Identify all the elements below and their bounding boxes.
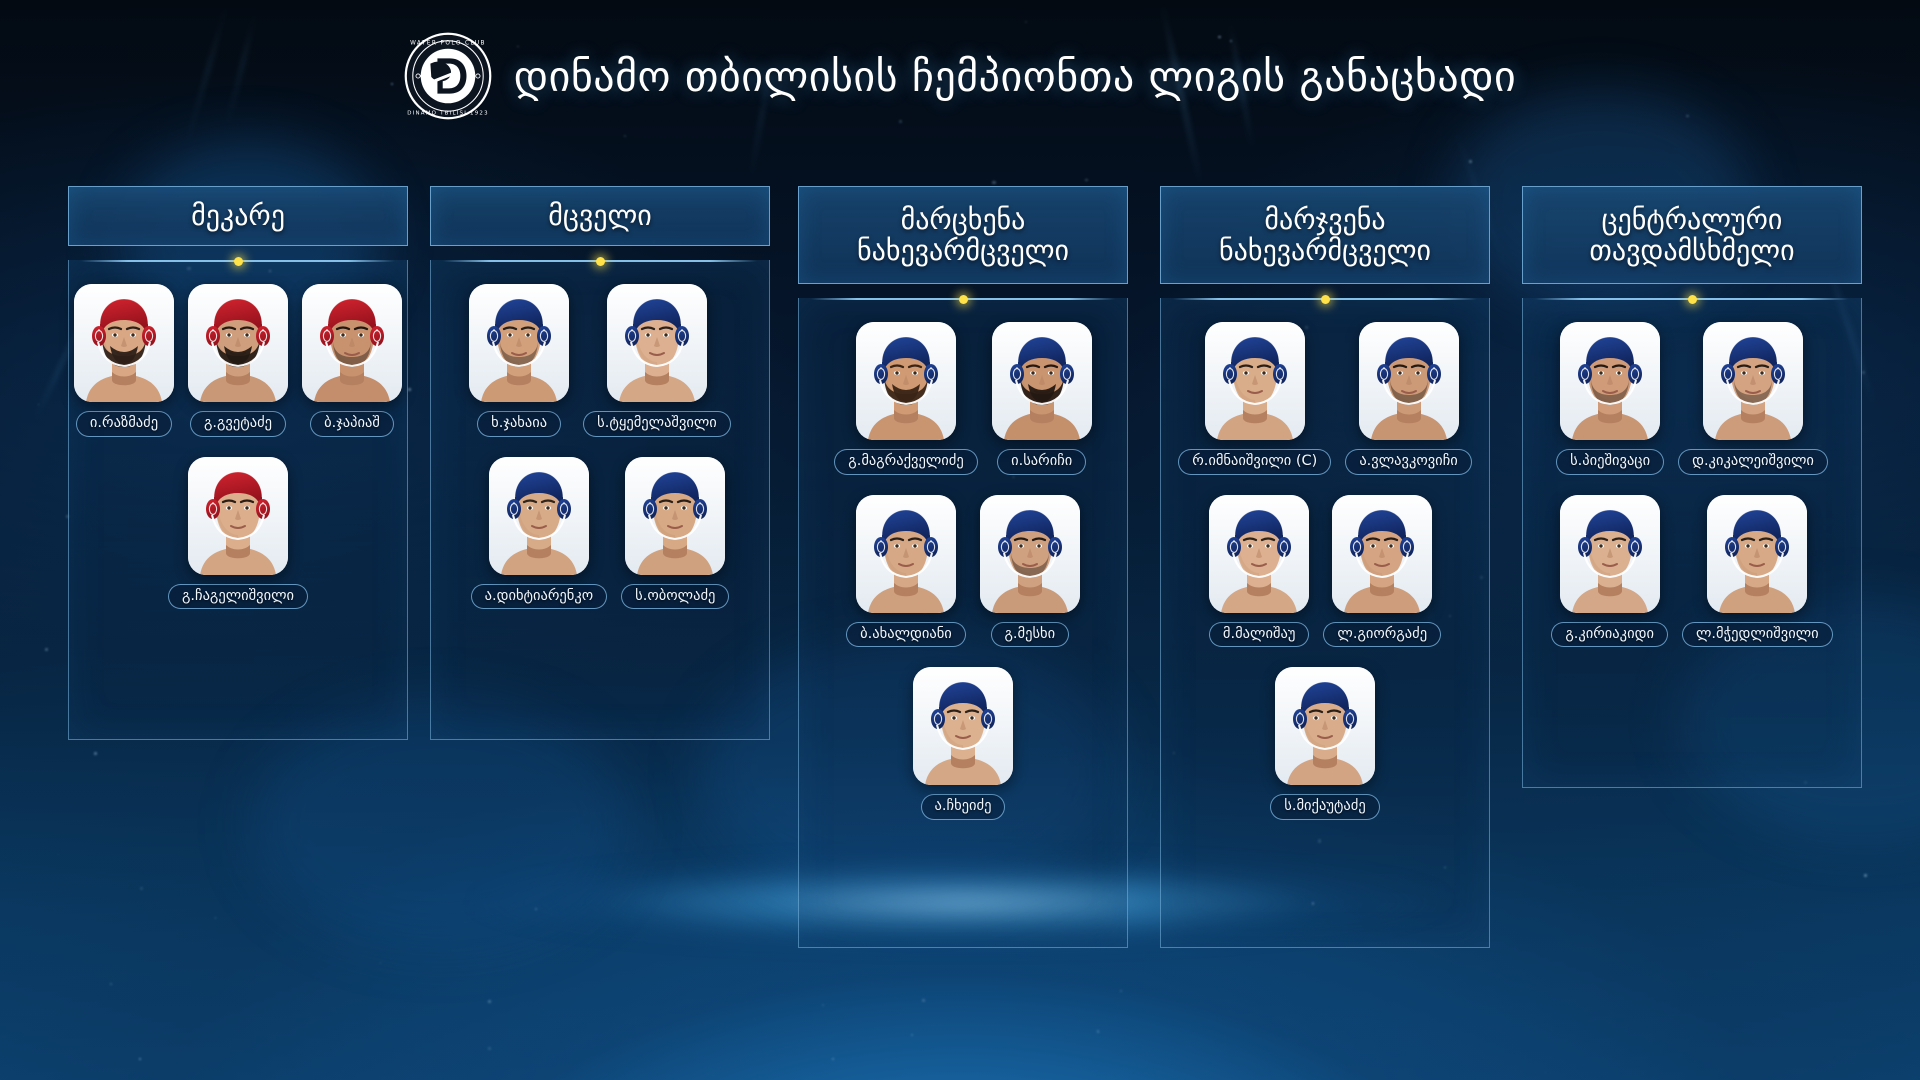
roster-column: მარჯვენანახევარმცველირ.იმნაიშვილი (C)ა.ვ… [1160, 186, 1490, 948]
svg-text:DINAMO TBILISI 1923: DINAMO TBILISI 1923 [407, 111, 489, 117]
player-card[interactable]: ლ.მჭედლიშვილი [1682, 495, 1833, 648]
background-sparkle [1085, 179, 1088, 182]
column-header: მარჯვენანახევარმცველი [1160, 186, 1490, 284]
player-card[interactable]: ი.რაზმაძე [74, 284, 174, 437]
column-body: რ.იმნაიშვილი (C)ა.ვლავკოვიჩიმ.მალიშაულ.გ… [1160, 298, 1490, 948]
player-name: ს.ტყემელაშვილი [583, 411, 731, 437]
background-sparkle [1469, 160, 1472, 163]
column-body: ი.რაზმაძეგ.გვეტაძებ.ჯაპიაშგ.ჩაგელიშვილი [68, 260, 408, 740]
player-name: რ.იმნაიშვილი (C) [1178, 449, 1331, 475]
player-name: ა.ვლავკოვიჩი [1345, 449, 1471, 475]
player-grid: ი.რაზმაძეგ.გვეტაძებ.ჯაპიაშგ.ჩაგელიშვილი [69, 262, 407, 609]
page-header: WATER POLO CLUB DINAMO TBILISI 1923 დინა… [0, 32, 1920, 120]
background-sparkle [110, 983, 112, 985]
player-name: ს.ობოლაძე [621, 584, 729, 610]
player-name: მ.მალიშაუ [1209, 622, 1310, 648]
player-card[interactable]: გ.გვეტაძე [188, 284, 288, 437]
column-divider [1173, 298, 1477, 300]
column-body: გ.მაგრაქველიძეი.სარიჩიბ.ახალდიანიგ.მესხი… [798, 298, 1128, 948]
player-photo [1209, 495, 1309, 613]
player-card[interactable]: მ.მალიშაუ [1209, 495, 1310, 648]
column-divider [443, 260, 757, 262]
column-divider [81, 260, 395, 262]
background-sparkle [1864, 874, 1867, 877]
column-title-line: ნახევარმცველი [1219, 235, 1431, 266]
player-photo [1205, 322, 1305, 440]
player-card[interactable]: ს.ტყემელაშვილი [583, 284, 731, 437]
player-name: ლ.გიორგაძე [1323, 622, 1441, 648]
column-title-line: ნახევარმცველი [857, 235, 1069, 266]
player-card[interactable]: გ.კირიაკიდი [1551, 495, 1668, 648]
player-card[interactable]: ბ.ახალდიანი [846, 495, 966, 648]
column-divider [811, 298, 1115, 300]
player-name: გ.მაგრაქველიძე [834, 449, 977, 475]
player-photo [489, 457, 589, 575]
player-card[interactable]: ბ.ჯაპიაშ [302, 284, 402, 437]
player-photo [302, 284, 402, 402]
column-divider-dot [234, 257, 243, 266]
player-photo [856, 322, 956, 440]
dinamo-water-polo-club-crest-icon: WATER POLO CLUB DINAMO TBILISI 1923 [404, 32, 492, 120]
column-title-line: მცველი [548, 200, 652, 231]
player-name: ს.მიქაუტაძე [1270, 794, 1379, 820]
player-photo [980, 495, 1080, 613]
player-card[interactable]: ხ.ჯახაია [469, 284, 569, 437]
player-name: ა.დიხტიარენკო [471, 584, 608, 610]
column-title-line: ცენტრალური [1602, 204, 1783, 235]
player-card[interactable]: რ.იმნაიშვილი (C) [1178, 322, 1331, 475]
background-sparkle [922, 999, 924, 1001]
background-sparkle [408, 388, 410, 390]
svg-text:WATER POLO CLUB: WATER POLO CLUB [410, 40, 486, 46]
player-name: ხ.ჯახაია [477, 411, 561, 437]
roster-column: მარცხენანახევარმცველიგ.მაგრაქველიძეი.სარ… [798, 186, 1128, 948]
player-grid: გ.მაგრაქველიძეი.სარიჩიბ.ახალდიანიგ.მესხი… [799, 300, 1127, 820]
column-header: ცენტრალურითავდამსხმელი [1522, 186, 1862, 284]
player-photo [1275, 667, 1375, 785]
roster-column: მეკარეი.რაზმაძეგ.გვეტაძებ.ჯაპიაშგ.ჩაგელი… [68, 186, 408, 740]
player-name: გ.გვეტაძე [190, 411, 286, 437]
player-card[interactable]: დ.კიკალეიშვილი [1678, 322, 1828, 475]
player-photo [188, 284, 288, 402]
column-header: მეკარე [68, 186, 408, 246]
column-body: ს.პიეშივაციდ.კიკალეიშვილიგ.კირიაკიდილ.მჭ… [1522, 298, 1862, 788]
column-title-line: მარჯვენა [1264, 204, 1385, 235]
player-name: ს.პიეშივაცი [1556, 449, 1664, 475]
roster-column: ცენტრალურითავდამსხმელის.პიეშივაციდ.კიკალ… [1522, 186, 1862, 788]
background-sparkle [488, 1047, 491, 1050]
player-card[interactable]: ს.მიქაუტაძე [1270, 667, 1379, 820]
column-divider-dot [959, 295, 968, 304]
column-divider-dot [596, 257, 605, 266]
background-sparkle [94, 752, 97, 755]
column-header: მცველი [430, 186, 770, 246]
player-card[interactable]: გ.მაგრაქველიძე [834, 322, 977, 475]
column-title-line: თავდამსხმელი [1589, 235, 1794, 266]
player-card[interactable]: ი.სარიჩი [992, 322, 1092, 475]
player-photo [1332, 495, 1432, 613]
player-grid: ს.პიეშივაციდ.კიკალეიშვილიგ.კირიაკიდილ.მჭ… [1523, 300, 1861, 647]
player-name: ბ.ჯაპიაშ [310, 411, 394, 437]
column-divider-dot [1688, 295, 1697, 304]
player-photo [1560, 322, 1660, 440]
player-card[interactable]: ს.ობოლაძე [621, 457, 729, 610]
player-card[interactable]: ა.დიხტიარენკო [471, 457, 608, 610]
player-card[interactable]: გ.ჩაგელიშვილი [168, 457, 308, 610]
player-name: ი.რაზმაძე [76, 411, 172, 437]
column-body: ხ.ჯახაიას.ტყემელაშვილია.დიხტიარენკოს.ობო… [430, 260, 770, 740]
background-sparkle [380, 962, 382, 964]
column-divider [1535, 298, 1849, 300]
player-card[interactable]: გ.მესხი [980, 495, 1080, 648]
player-card[interactable]: ა.ჩხეიძე [913, 667, 1013, 820]
player-photo [913, 667, 1013, 785]
column-title-line: მეკარე [191, 200, 285, 231]
page-title: დინამო თბილისის ჩემპიონთა ლიგის განაცხად… [514, 52, 1517, 101]
roster-column: მცველიხ.ჯახაიას.ტყემელაშვილია.დიხტიარენკ… [430, 186, 770, 740]
column-header: მარცხენანახევარმცველი [798, 186, 1128, 284]
player-photo [607, 284, 707, 402]
player-photo [1560, 495, 1660, 613]
player-name: ბ.ახალდიანი [846, 622, 966, 648]
player-name: ა.ჩხეიძე [921, 794, 1006, 820]
player-name: გ.კირიაკიდი [1551, 622, 1668, 648]
player-name: ლ.მჭედლიშვილი [1682, 622, 1833, 648]
column-title-line: მარცხენა [901, 204, 1026, 235]
player-photo [856, 495, 956, 613]
background-sparkle [535, 908, 537, 910]
player-photo [1359, 322, 1459, 440]
column-divider-dot [1321, 295, 1330, 304]
player-photo [188, 457, 288, 575]
player-grid: ხ.ჯახაიას.ტყემელაშვილია.დიხტიარენკოს.ობო… [431, 262, 769, 609]
player-photo [1703, 322, 1803, 440]
player-photo [625, 457, 725, 575]
player-card[interactable]: ა.ვლავკოვიჩი [1345, 322, 1471, 475]
player-name: დ.კიკალეიშვილი [1678, 449, 1828, 475]
background-sparkle [992, 181, 995, 184]
background-sparkle [1120, 990, 1122, 992]
player-photo [1707, 495, 1807, 613]
player-name: გ.ჩაგელიშვილი [168, 584, 308, 610]
player-grid: რ.იმნაიშვილი (C)ა.ვლავკოვიჩიმ.მალიშაულ.გ… [1161, 300, 1489, 820]
player-card[interactable]: ლ.გიორგაძე [1323, 495, 1441, 648]
player-photo [74, 284, 174, 402]
background-sparkle [488, 1000, 491, 1003]
player-name: ი.სარიჩი [997, 449, 1086, 475]
player-photo [992, 322, 1092, 440]
player-name: გ.მესხი [991, 622, 1070, 648]
player-card[interactable]: ს.პიეშივაცი [1556, 322, 1664, 475]
player-photo [469, 284, 569, 402]
